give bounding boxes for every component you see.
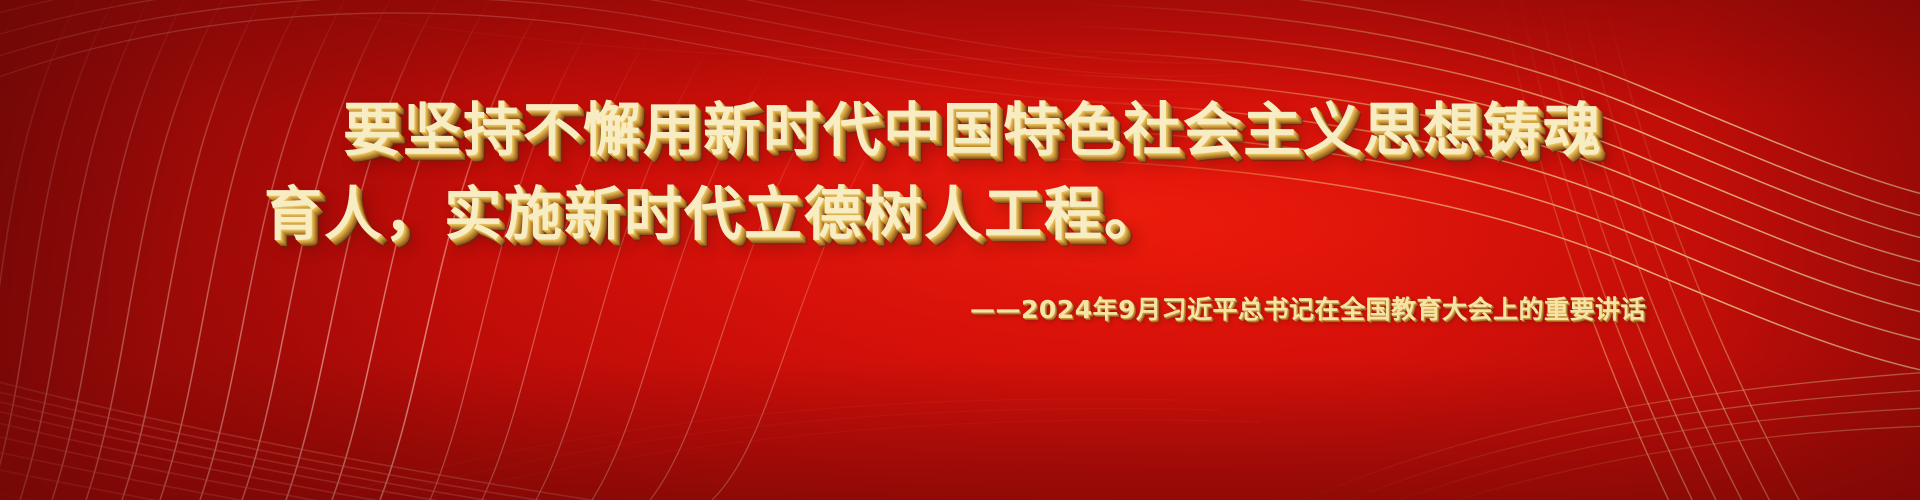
headline-line-1: 要坚持不懈用新时代中国特色社会主义思想铸魂 [260, 88, 1660, 172]
banner-content: 要坚持不懈用新时代中国特色社会主义思想铸魂 育人，实施新时代立德树人工程。 ——… [0, 0, 1920, 500]
headline-line-2: 育人，实施新时代立德树人工程。 [260, 172, 1660, 256]
slogan-banner: 要坚持不懈用新时代中国特色社会主义思想铸魂 育人，实施新时代立德树人工程。 ——… [0, 0, 1920, 500]
attribution-source: ——2024年9月习近平总书记在全国教育大会上的重要讲话 [260, 290, 1660, 326]
headline: 要坚持不懈用新时代中国特色社会主义思想铸魂 育人，实施新时代立德树人工程。 [260, 88, 1660, 256]
